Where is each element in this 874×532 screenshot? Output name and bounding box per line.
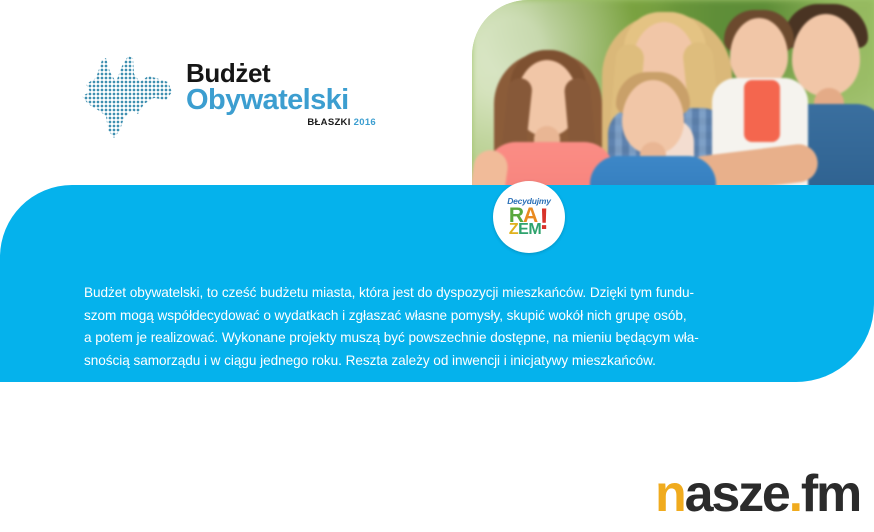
- logo-line-city-year: BŁASZKI2016: [186, 117, 376, 128]
- logo-wordmark: Budżet Obywatelski BŁASZKI2016: [186, 60, 376, 128]
- poster-root: Decydujmy R A ! ZEM Budżet obywatelski, …: [0, 0, 874, 532]
- badge-letter-z: Z: [509, 221, 518, 238]
- nasze-fm-logo: nasze.fm: [655, 468, 860, 520]
- logo-line-budzet: Budżet: [186, 60, 376, 87]
- nasze-logo-letter-n: n: [655, 465, 685, 523]
- dotted-municipality-map-icon: [76, 52, 180, 148]
- nasze-logo-text-fm: fm: [801, 465, 860, 523]
- nasze-logo-dot: .: [789, 465, 801, 523]
- father-head: [792, 14, 860, 96]
- nasze-logo-text-asze: asze: [685, 465, 789, 523]
- decydujmy-razem-badge: Decydujmy R A ! ZEM: [493, 181, 565, 253]
- budzet-obywatelski-logo: Budżet Obywatelski BŁASZKI2016: [76, 52, 376, 152]
- intro-paragraph: Budżet obywatelski, to cześć budżetu mia…: [84, 282, 798, 372]
- badge-zem-row: ZEM: [509, 223, 541, 237]
- logo-city-name: BŁASZKI: [307, 117, 350, 128]
- logo-line-obywatelski: Obywatelski: [186, 86, 376, 116]
- badge-letters-em: EM: [518, 221, 541, 238]
- toddler-shirt: [744, 80, 780, 142]
- logo-year: 2016: [354, 117, 376, 128]
